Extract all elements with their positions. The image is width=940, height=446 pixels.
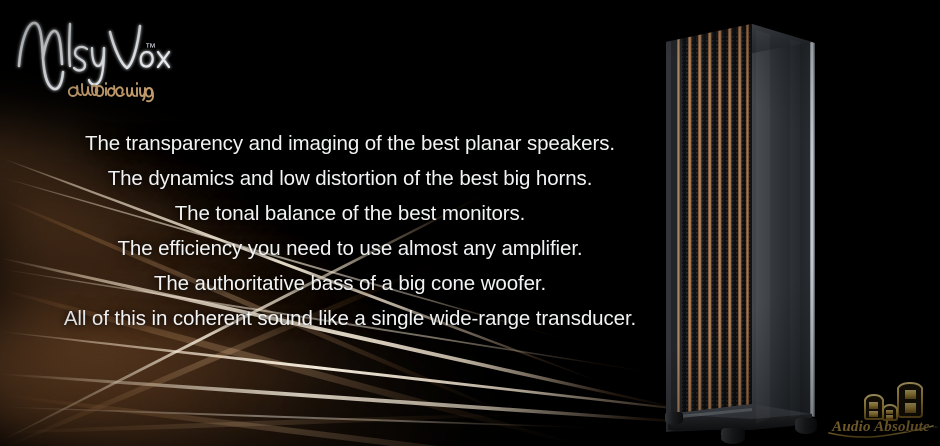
- dealer-name: Audio Absolute: [825, 419, 937, 436]
- audio-design-tagline-icon: [69, 83, 153, 101]
- trademark-symbol: ™: [145, 42, 156, 54]
- light-ray: [0, 372, 718, 426]
- copy-line: The efficiency you need to use almost an…: [0, 231, 700, 266]
- copy-line: The transparency and imaging of the best…: [0, 126, 700, 161]
- copy-line: All of this in coherent sound like a sin…: [0, 301, 700, 336]
- speaker-chrome-edge: [810, 42, 815, 418]
- copy-line: The authoritative bass of a big cone woo…: [0, 266, 700, 301]
- promo-banner: ™ The transparency and imaging of the be…: [0, 0, 940, 446]
- light-ray: [0, 406, 600, 429]
- headline-copy: The transparency and imaging of the best…: [0, 126, 700, 336]
- light-ray: [0, 412, 520, 435]
- alsyvox-script-icon: [19, 23, 169, 89]
- alsyvox-logo: ™: [14, 14, 174, 100]
- copy-line: The tonal balance of the best monitors.: [0, 196, 700, 231]
- light-ray: [0, 392, 636, 446]
- audio-absolute-amp-icon: [865, 383, 922, 420]
- dealer-trademark-symbol: ™: [932, 426, 938, 432]
- haze-right-edge: [0, 373, 232, 446]
- audio-absolute-logo: Audio Absolute ™: [825, 378, 937, 440]
- copy-line: The dynamics and low distortion of the b…: [0, 161, 700, 196]
